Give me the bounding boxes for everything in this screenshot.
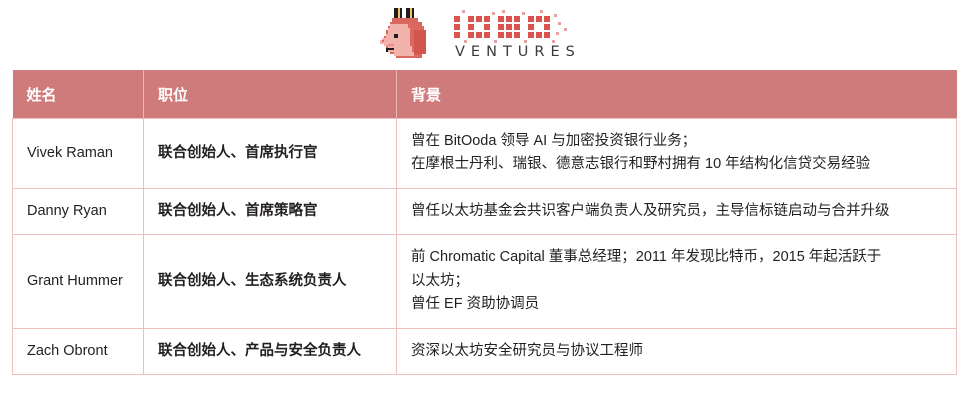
team-table-container: 姓名 职位 背景 Vivek Raman 联合创始人、首席执行官 曾在 BitO…	[12, 70, 956, 375]
cell-name: Grant Hummer	[13, 235, 144, 328]
background-line: 以太坊；	[411, 270, 944, 293]
background-line: 前 Chromatic Capital 董事总经理；2011 年发现比特币，20…	[411, 246, 944, 269]
cell-background: 前 Chromatic Capital 董事总经理；2011 年发现比特币，20…	[397, 235, 957, 328]
table-header: 姓名 职位 背景	[13, 70, 957, 119]
column-header-background: 背景	[397, 70, 957, 119]
table-header-row: 姓名 职位 背景	[13, 70, 957, 119]
brand-tagline: VENTURES	[452, 45, 588, 60]
background-line: 在摩根士丹利、瑞银、德意志银行和野村拥有 10 年结构化信贷交易经验	[411, 153, 944, 176]
brand-name-pixel	[452, 10, 588, 44]
brand-logo: VENTURES	[0, 0, 972, 70]
background-line: 曾任 EF 资助协调员	[411, 293, 944, 316]
background-line: 曾任以太坊基金会共识客户端负责人及研究员，主导信标链启动与合并升级	[411, 200, 944, 223]
cell-position: 联合创始人、生态系统负责人	[144, 235, 397, 328]
cell-name: Danny Ryan	[13, 188, 144, 234]
column-header-position: 职位	[144, 70, 397, 119]
column-header-name: 姓名	[13, 70, 144, 119]
brand-wordmark: VENTURES	[452, 10, 588, 60]
table-row: Danny Ryan 联合创始人、首席策略官 曾任以太坊基金会共识客户端负责人及…	[13, 188, 957, 234]
cell-background: 曾在 BitOoda 领导 AI 与加密投资银行业务； 在摩根士丹利、瑞银、德意…	[397, 119, 957, 189]
cell-name: Vivek Raman	[13, 119, 144, 189]
cell-background: 曾任以太坊基金会共识客户端负责人及研究员，主导信标链启动与合并升级	[397, 188, 957, 234]
cell-position: 联合创始人、产品与安全负责人	[144, 328, 397, 374]
cell-position: 联合创始人、首席策略官	[144, 188, 397, 234]
background-line: 资深以太坊安全研究员与协议工程师	[411, 340, 944, 363]
table-row: Vivek Raman 联合创始人、首席执行官 曾在 BitOoda 领导 AI…	[13, 119, 957, 189]
table-row: Grant Hummer 联合创始人、生态系统负责人 前 Chromatic C…	[13, 235, 957, 328]
team-table: 姓名 职位 背景 Vivek Raman 联合创始人、首席执行官 曾在 BitO…	[12, 70, 957, 375]
llama-head-icon	[380, 6, 444, 64]
table-row: Zach Obront 联合创始人、产品与安全负责人 资深以太坊安全研究员与协议…	[13, 328, 957, 374]
cell-position: 联合创始人、首席执行官	[144, 119, 397, 189]
cell-background: 资深以太坊安全研究员与协议工程师	[397, 328, 957, 374]
cell-name: Zach Obront	[13, 328, 144, 374]
table-body: Vivek Raman 联合创始人、首席执行官 曾在 BitOoda 领导 AI…	[13, 119, 957, 375]
background-line: 曾在 BitOoda 领导 AI 与加密投资银行业务；	[411, 130, 944, 153]
